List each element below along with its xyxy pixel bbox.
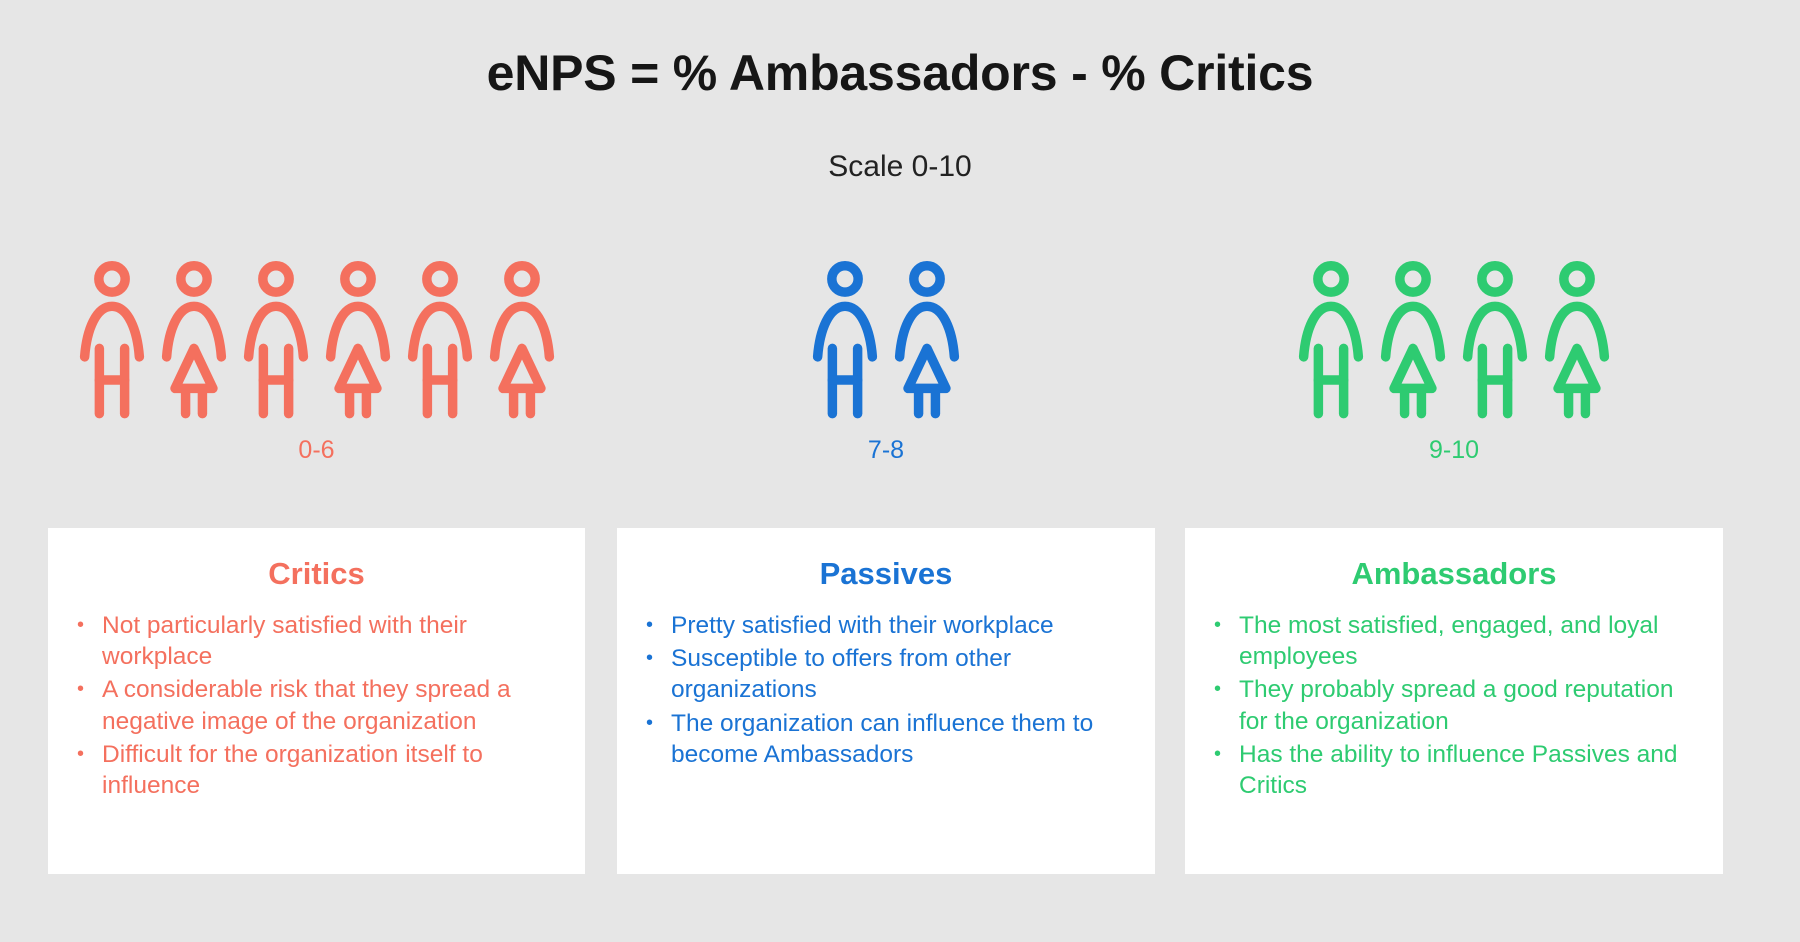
- card-ambassadors: Ambassadors •The most satisfied, engaged…: [1185, 528, 1723, 874]
- bullet-dot-icon: •: [1211, 610, 1239, 640]
- page-subtitle: Scale 0-10: [0, 150, 1800, 184]
- card-title-critics: Critics: [74, 556, 559, 592]
- card-title-passives: Passives: [643, 556, 1129, 592]
- bullet-dot-icon: •: [1211, 739, 1239, 769]
- list-item: •The most satisfied, engaged, and loyal …: [1211, 610, 1697, 673]
- figure-group-critics: 0-6: [48, 255, 585, 463]
- person-female-icon: [321, 260, 395, 420]
- list-item-label: A considerable risk that they spread a n…: [102, 674, 559, 737]
- people-row-passives: [617, 255, 1155, 420]
- page-title: eNPS = % Ambassadors - % Critics: [0, 44, 1800, 102]
- person-male-icon: [403, 260, 477, 420]
- person-female-icon: [1376, 260, 1450, 420]
- bullet-list-critics: •Not particularly satisfied with their w…: [74, 610, 559, 802]
- list-item: •Difficult for the organization itself t…: [74, 739, 559, 802]
- person-female-icon: [485, 260, 559, 420]
- range-label-critics: 0-6: [48, 438, 585, 463]
- bullet-dot-icon: •: [74, 674, 102, 704]
- list-item: •Pretty satisfied with their workplace: [643, 610, 1129, 641]
- list-item-label: The most satisfied, engaged, and loyal e…: [1239, 610, 1697, 673]
- bullet-list-passives: •Pretty satisfied with their workplace•S…: [643, 610, 1129, 771]
- range-label-ambassadors: 9-10: [1185, 438, 1723, 463]
- infographic-page: eNPS = % Ambassadors - % Critics Scale 0…: [0, 0, 1800, 942]
- list-item-label: They probably spread a good reputation f…: [1239, 674, 1697, 737]
- person-male-icon: [808, 260, 882, 420]
- list-item: •Susceptible to offers from other organi…: [643, 643, 1129, 706]
- list-item: •Has the ability to influence Passives a…: [1211, 739, 1697, 802]
- person-female-icon: [890, 260, 964, 420]
- figure-group-passives: 7-8: [617, 255, 1155, 463]
- person-female-icon: [157, 260, 231, 420]
- bullet-list-ambassadors: •The most satisfied, engaged, and loyal …: [1211, 610, 1697, 802]
- list-item-label: Has the ability to influence Passives an…: [1239, 739, 1697, 802]
- list-item-label: Difficult for the organization itself to…: [102, 739, 559, 802]
- list-item: •Not particularly satisfied with their w…: [74, 610, 559, 673]
- bullet-dot-icon: •: [643, 708, 671, 738]
- card-passives: Passives •Pretty satisfied with their wo…: [617, 528, 1155, 874]
- people-row-ambassadors: [1185, 255, 1723, 420]
- list-item: •They probably spread a good reputation …: [1211, 674, 1697, 737]
- person-female-icon: [1540, 260, 1614, 420]
- list-item-label: Susceptible to offers from other organiz…: [671, 643, 1129, 706]
- range-label-passives: 7-8: [617, 438, 1155, 463]
- person-male-icon: [75, 260, 149, 420]
- people-row-critics: [48, 255, 585, 420]
- card-title-ambassadors: Ambassadors: [1211, 556, 1697, 592]
- bullet-dot-icon: •: [74, 739, 102, 769]
- bullet-dot-icon: •: [74, 610, 102, 640]
- list-item-label: Pretty satisfied with their workplace: [671, 610, 1129, 641]
- person-male-icon: [239, 260, 313, 420]
- figure-groups-row: 0-6 7-8 9-10: [0, 255, 1800, 505]
- card-critics: Critics •Not particularly satisfied with…: [48, 528, 585, 874]
- list-item-label: The organization can influence them to b…: [671, 708, 1129, 771]
- bullet-dot-icon: •: [643, 643, 671, 673]
- cards-row: Critics •Not particularly satisfied with…: [0, 528, 1800, 874]
- bullet-dot-icon: •: [1211, 674, 1239, 704]
- list-item-label: Not particularly satisfied with their wo…: [102, 610, 559, 673]
- bullet-dot-icon: •: [643, 610, 671, 640]
- person-male-icon: [1458, 260, 1532, 420]
- person-male-icon: [1294, 260, 1368, 420]
- list-item: •A considerable risk that they spread a …: [74, 674, 559, 737]
- list-item: •The organization can influence them to …: [643, 708, 1129, 771]
- figure-group-ambassadors: 9-10: [1185, 255, 1723, 463]
